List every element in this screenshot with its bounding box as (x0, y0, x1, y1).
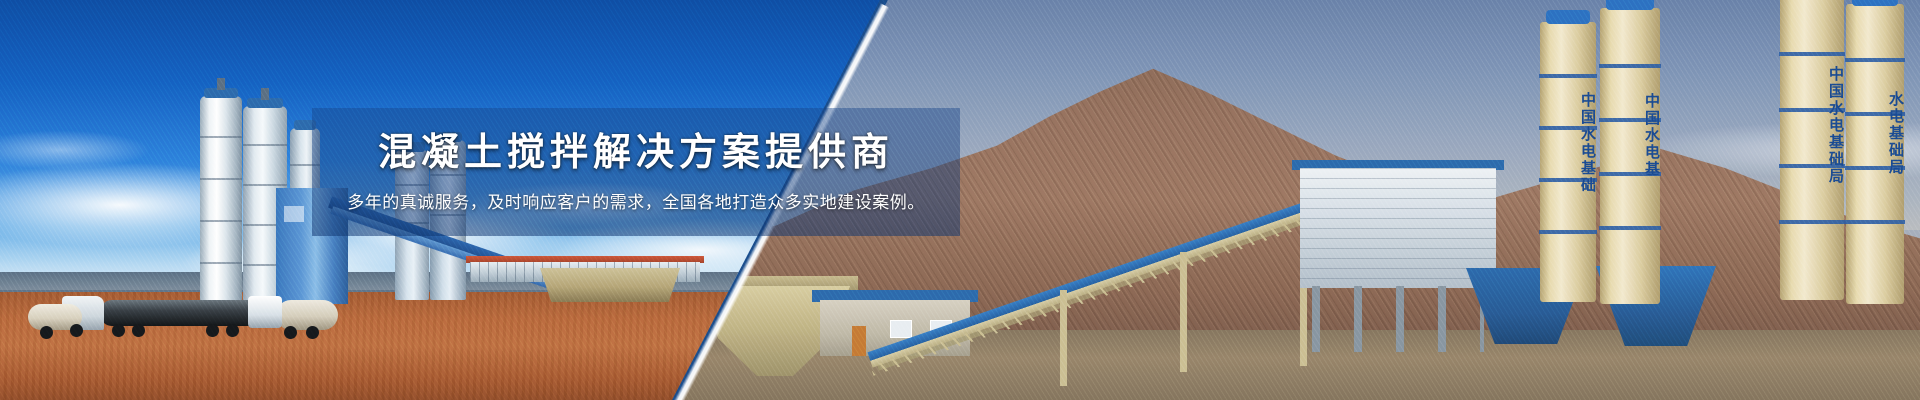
right-steel-legs (1312, 286, 1484, 352)
right-silo-1: 中国水电基础 (1540, 22, 1596, 302)
banner-headline: 混凝土搅拌解决方案提供商 (378, 134, 894, 172)
right-silo-3-label: 中国水电基础局 (1780, 6, 1844, 245)
left-tanker-trailer (100, 300, 268, 326)
silo-cap-icon (1606, 0, 1654, 10)
right-silo-4: 水电基础局 (1846, 4, 1904, 304)
right-silo-2: 中国水电基 (1600, 8, 1660, 304)
silo-pipe-icon (261, 88, 269, 100)
right-silo-1-label: 中国水电基础 (1540, 34, 1596, 252)
right-house-window (890, 320, 912, 338)
right-silo-4-label: 水电基础局 (1846, 16, 1904, 250)
right-control-building (1300, 168, 1496, 288)
left-silo-1 (200, 96, 242, 301)
text-overlay-panel: 混凝土搅拌解决方案提供商 多年的真诚服务，及时响应客户的需求，全国各地打造众多实… (312, 108, 960, 236)
silo-cap-icon (1546, 10, 1591, 24)
right-silo-2-label: 中国水电基 (1600, 20, 1660, 251)
silo-pipe-icon (217, 78, 225, 90)
right-house-door (852, 326, 866, 356)
right-silo-3: 中国水电基础局 (1780, 0, 1844, 300)
left-aggregate-bins (540, 268, 680, 302)
left-mixer-truck-2 (276, 300, 338, 330)
left-mixer-truck-2-cab (248, 296, 282, 328)
hero-banner: 中国水电基础 中国水电基 中国水电基础局 水电基础局 混凝土搅拌解决方案提供商 … (0, 0, 1920, 400)
silo-cap-icon (1852, 0, 1898, 6)
banner-subheadline: 多年的真诚服务，及时响应客户的需求，全国各地打造众多实地建设案例。 (347, 194, 925, 211)
